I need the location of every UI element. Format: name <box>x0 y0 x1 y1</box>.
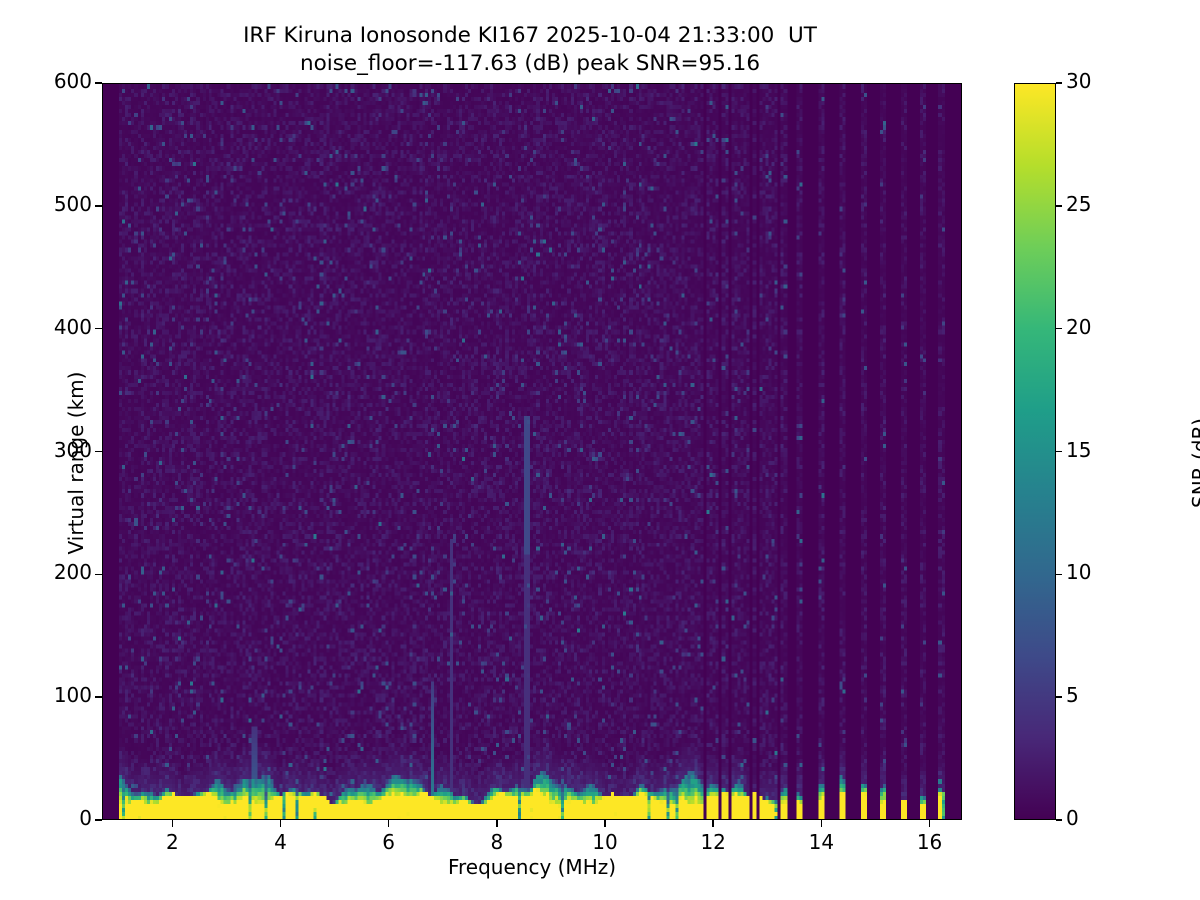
y-axis-label: Virtual range (km) <box>64 93 88 833</box>
title-line-1: IRF Kiruna Ionosonde KI167 2025-10-04 21… <box>0 22 1060 50</box>
figure-title: IRF Kiruna Ionosonde KI167 2025-10-04 21… <box>0 22 1060 77</box>
x-tick-label: 16 <box>917 830 942 854</box>
x-tick-mark <box>280 820 282 827</box>
x-tick-label: 2 <box>166 830 179 854</box>
colorbar-tick-label: 25 <box>1066 192 1091 216</box>
x-tick-mark <box>821 820 823 827</box>
y-tick-mark <box>95 819 102 821</box>
y-tick-mark <box>95 328 102 330</box>
colorbar-tick-mark <box>1056 574 1062 576</box>
y-tick-mark <box>95 451 102 453</box>
x-tick-mark <box>712 820 714 827</box>
colorbar-tick-label: 0 <box>1066 806 1079 830</box>
x-tick-label: 8 <box>490 830 503 854</box>
colorbar-tick-mark <box>1056 451 1062 453</box>
title-line-2: noise_floor=-117.63 (dB) peak SNR=95.16 <box>0 50 1060 78</box>
y-tick-label: 600 <box>54 69 92 93</box>
ionogram-plot-area[interactable] <box>102 83 962 820</box>
colorbar-tick-mark <box>1056 82 1062 84</box>
x-tick-label: 12 <box>700 830 725 854</box>
x-axis-label: Frequency (MHz) <box>102 855 962 879</box>
colorbar-tick-label: 20 <box>1066 315 1091 339</box>
colorbar-tick-mark <box>1056 696 1062 698</box>
x-tick-mark <box>604 820 606 827</box>
colorbar-tick-mark <box>1056 819 1062 821</box>
colorbar-tick-label: 30 <box>1066 69 1091 93</box>
colorbar-gradient <box>1015 84 1055 819</box>
x-tick-label: 4 <box>274 830 287 854</box>
x-tick-mark <box>388 820 390 827</box>
x-tick-label: 10 <box>592 830 617 854</box>
x-tick-mark <box>929 820 931 827</box>
x-tick-mark <box>496 820 498 827</box>
colorbar[interactable] <box>1014 83 1056 820</box>
y-tick-mark <box>95 205 102 207</box>
colorbar-label: SNR (dB) <box>1188 93 1200 833</box>
colorbar-tick-label: 15 <box>1066 438 1091 462</box>
x-tick-label: 14 <box>809 830 834 854</box>
y-tick-mark <box>95 696 102 698</box>
ionogram-heatmap-canvas[interactable] <box>103 84 961 819</box>
colorbar-tick-label: 10 <box>1066 560 1091 584</box>
colorbar-tick-mark <box>1056 205 1062 207</box>
y-tick-mark <box>95 574 102 576</box>
x-tick-label: 6 <box>382 830 395 854</box>
colorbar-tick-mark <box>1056 328 1062 330</box>
colorbar-tick-label: 5 <box>1066 683 1079 707</box>
x-tick-mark <box>172 820 174 827</box>
ionogram-figure: IRF Kiruna Ionosonde KI167 2025-10-04 21… <box>0 0 1200 900</box>
y-tick-mark <box>95 82 102 84</box>
